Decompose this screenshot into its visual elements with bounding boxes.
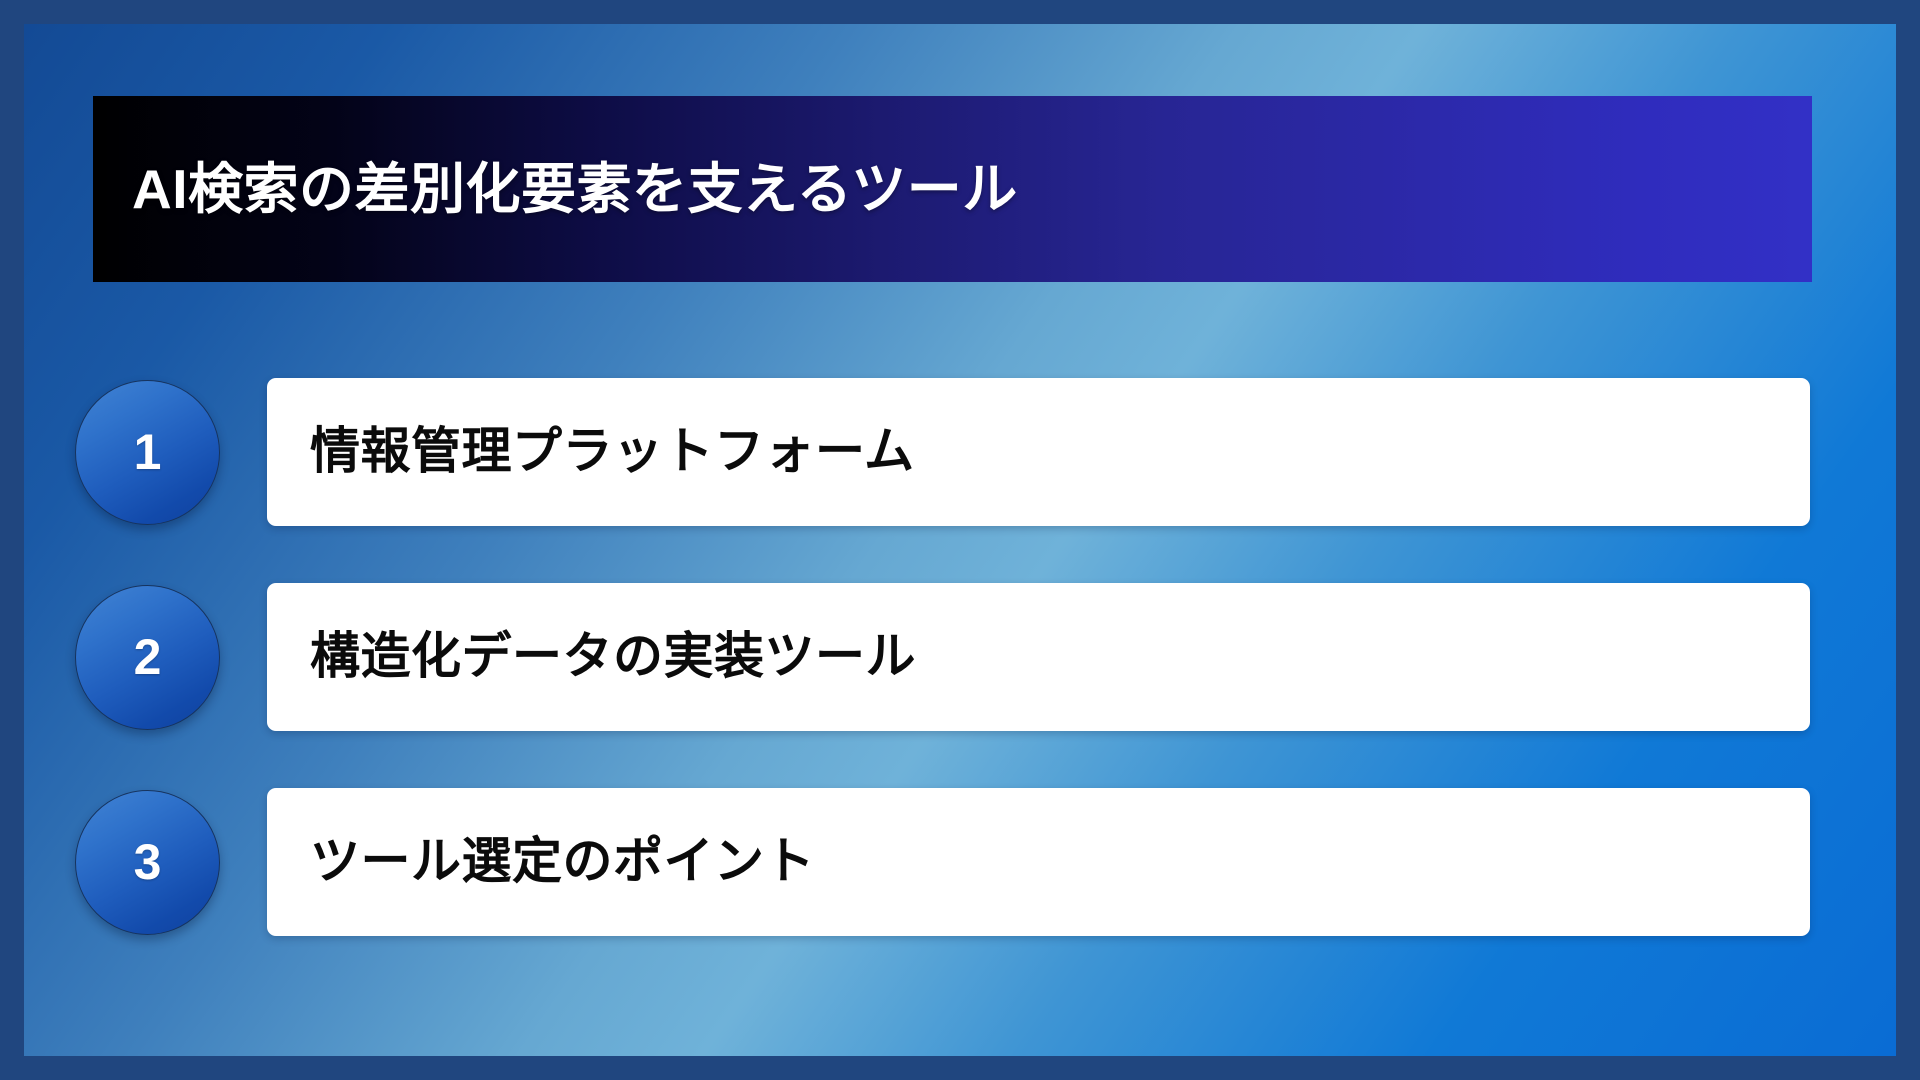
step-number-badge: 1 — [75, 380, 220, 525]
slide-content-area: AI検索の差別化要素を支えるツール 1 情報管理プラットフォーム 2 構造化デー… — [24, 24, 1896, 1056]
slide: AI検索の差別化要素を支えるツール 1 情報管理プラットフォーム 2 構造化デー… — [0, 0, 1920, 1080]
slide-title-banner: AI検索の差別化要素を支えるツール — [93, 96, 1812, 282]
step-number-label: 1 — [134, 427, 162, 477]
step-number-label: 2 — [134, 632, 162, 682]
step-number-badge: 3 — [75, 790, 220, 935]
list-item[interactable]: 2 構造化データの実装ツール — [24, 583, 1896, 731]
agenda-card-label: 構造化データの実装ツール — [310, 628, 916, 686]
page-title: AI検索の差別化要素を支えるツール — [132, 159, 1018, 220]
step-number-badge: 2 — [75, 585, 220, 730]
agenda-card-label: 情報管理プラットフォーム — [310, 423, 915, 481]
agenda-card[interactable]: ツール選定のポイント — [267, 788, 1810, 936]
list-item[interactable]: 1 情報管理プラットフォーム — [24, 378, 1896, 526]
agenda-card[interactable]: 情報管理プラットフォーム — [267, 378, 1810, 526]
step-number-label: 3 — [134, 837, 162, 887]
agenda-card-label: ツール選定のポイント — [310, 833, 815, 891]
list-item[interactable]: 3 ツール選定のポイント — [24, 788, 1896, 936]
agenda-card[interactable]: 構造化データの実装ツール — [267, 583, 1810, 731]
